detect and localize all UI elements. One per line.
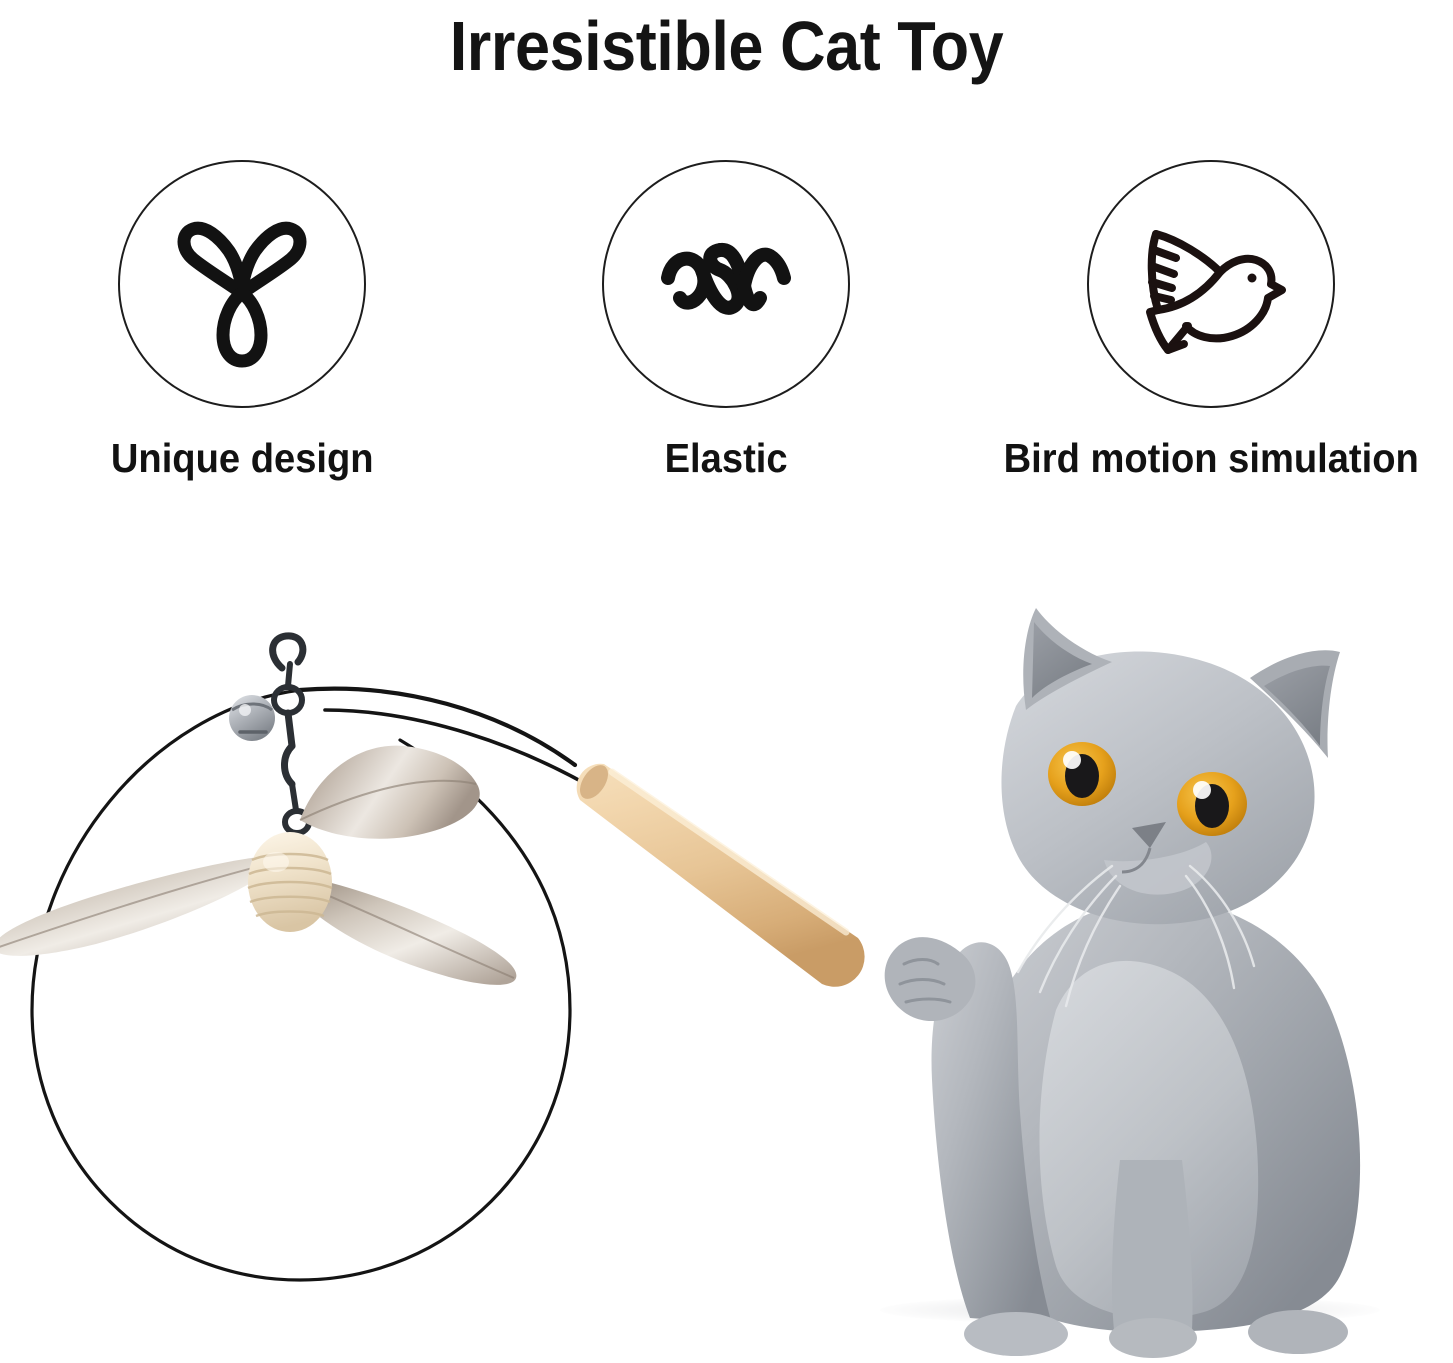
cat-left-eye <box>1048 742 1116 806</box>
product-photo <box>0 560 1453 1363</box>
spring-coil-icon <box>636 194 816 374</box>
feature-icon-circle <box>1087 160 1335 408</box>
flying-bird-icon <box>1116 194 1306 374</box>
feather-upper <box>300 746 480 839</box>
cat-left-paw <box>964 1312 1068 1356</box>
feature-item-elastic: Elastic <box>484 160 968 500</box>
three-lobe-propeller-icon <box>147 189 337 379</box>
bell <box>229 695 275 741</box>
bird-eye <box>1247 274 1256 283</box>
cat-front-leg <box>1112 1160 1193 1330</box>
feature-label: Elastic <box>665 434 788 482</box>
feature-item-unique-design: Unique design <box>0 160 484 500</box>
cat-front-paw <box>1109 1318 1197 1358</box>
feature-icon-circle <box>118 160 366 408</box>
cat-wand-toy <box>0 560 920 1363</box>
product-marketing-image: Irresistible Cat Toy Unique design <box>0 0 1453 1363</box>
feather-left <box>0 856 268 956</box>
ribbed-wooden-bead <box>248 832 332 932</box>
wire-loop <box>32 690 570 1280</box>
cat-right-eye <box>1177 772 1247 836</box>
feature-item-bird-motion: Bird motion simulation <box>969 160 1453 500</box>
wire-upper-arc <box>300 689 575 765</box>
page-title-text: Irresistible Cat Toy <box>450 9 1004 83</box>
feature-icon-circle <box>602 160 850 408</box>
feature-list: Unique design Elastic <box>0 160 1453 500</box>
feature-label: Bird motion simulation <box>1003 434 1418 482</box>
british-shorthair-cat <box>820 560 1453 1363</box>
cat-right-paw <box>1248 1310 1348 1354</box>
feature-label: Unique design <box>111 434 374 482</box>
page-title: Irresistible Cat Toy <box>0 0 1453 92</box>
